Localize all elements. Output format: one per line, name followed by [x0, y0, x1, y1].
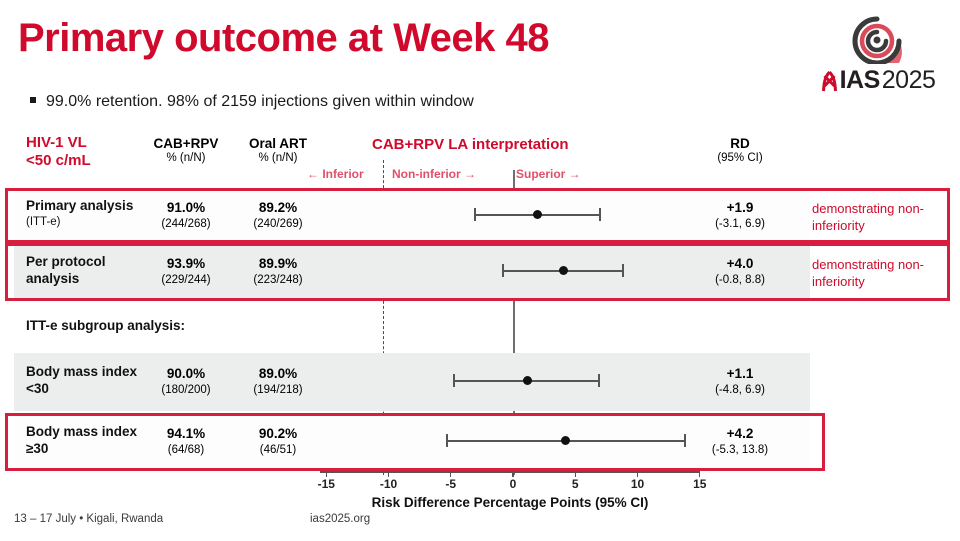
row-label-main: Per protocol: [26, 254, 106, 269]
cell-cab-value: 90.0% (180/200): [136, 365, 236, 397]
cell-oral-value: 89.2% (240/269): [228, 199, 328, 231]
oral-percent: 89.2%: [228, 199, 328, 217]
rd-header-sub: (95% CI): [680, 152, 800, 164]
row-label-main: Body mass index: [26, 364, 137, 379]
ias-wordmark: IAS 2025: [810, 66, 946, 95]
ias-logo-name: IAS: [840, 66, 880, 95]
cab-percent: 90.0%: [136, 365, 236, 383]
subgroup-section-header: ITT-e subgroup analysis:: [26, 318, 185, 333]
oral-fraction: (240/269): [228, 217, 328, 232]
cell-oral-value: 89.0% (194/218): [228, 365, 328, 397]
cell-cab-value: 91.0% (244/268): [136, 199, 236, 231]
oral-fraction: (194/218): [228, 383, 328, 398]
retention-bullet: 99.0% retention. 98% of 2159 injections …: [30, 93, 474, 111]
axis-title: Risk Difference Percentage Points (95% C…: [320, 495, 700, 510]
x-axis: -15-10-5051015 Risk Difference Percentag…: [0, 471, 960, 511]
rd-ci: (-3.1, 6.9): [680, 217, 800, 232]
cab-header-sub: % (n/N): [136, 152, 236, 164]
axis-line: [320, 471, 700, 473]
cell-oral-value: 89.9% (223/248): [228, 255, 328, 287]
cell-rd-value: +1.1 (-4.8, 6.9): [680, 365, 800, 397]
ci-cap-lower: [502, 264, 504, 277]
oral-percent: 90.2%: [228, 425, 328, 443]
point-estimate-dot: [523, 376, 532, 385]
cell-rd-value: +1.9 (-3.1, 6.9): [680, 199, 800, 231]
retention-bullet-text: 99.0% retention. 98% of 2159 injections …: [46, 93, 474, 110]
legend-superior: Superior →: [516, 167, 581, 181]
row-label-sub: (ITT-e): [26, 215, 133, 229]
row-label-main: Body mass index: [26, 424, 137, 439]
row-annotation: demonstrating non-inferiority: [812, 257, 958, 291]
table-row: Body mass index ≥30 94.1% (64/68) 90.2% …: [0, 413, 960, 471]
footer-event-info: 13 – 17 July • Kigali, Rwanda: [14, 513, 163, 525]
cell-oral-value: 90.2% (46/51): [228, 425, 328, 457]
row-label: Per protocol analysis: [26, 254, 106, 288]
oral-fraction: (223/248): [228, 273, 328, 288]
oral-header-main: Oral ART: [228, 136, 328, 151]
cell-cab-value: 93.9% (229/244): [136, 255, 236, 287]
ci-cap-lower: [453, 374, 455, 387]
oral-header-sub: % (n/N): [228, 152, 328, 164]
column-header-cab-rpv: CAB+RPV % (n/N): [136, 136, 236, 164]
row-label: Primary analysis (ITT-e): [26, 198, 133, 229]
axis-tick-label: 0: [493, 477, 533, 491]
row-label: Body mass index ≥30: [26, 424, 137, 458]
row-label-sub: <30: [26, 381, 137, 398]
rd-estimate: +1.9: [680, 199, 800, 217]
row-label-main: Primary analysis: [26, 198, 133, 213]
cell-cab-value: 94.1% (64/68): [136, 425, 236, 457]
point-estimate-dot: [559, 266, 568, 275]
axis-tick-label: 10: [618, 477, 658, 491]
row-label-sub: ≥30: [26, 441, 137, 458]
rd-ci: (-5.3, 13.8): [680, 443, 800, 458]
axis-tick-label: 5: [555, 477, 595, 491]
rd-estimate: +4.2: [680, 425, 800, 443]
cab-fraction: (64/68): [136, 443, 236, 458]
red-ribbon-icon: [821, 68, 838, 94]
point-estimate-dot: [561, 436, 570, 445]
column-header-rd: RD (95% CI): [680, 136, 800, 164]
table-row: Body mass index <30 90.0% (180/200) 89.0…: [0, 353, 960, 411]
cab-percent: 93.9%: [136, 255, 236, 273]
ci-cap-lower: [446, 434, 448, 447]
table-row: Per protocol analysis 93.9% (229/244) 89…: [0, 243, 960, 301]
outcome-header-line2: <50 c/mL: [26, 152, 146, 170]
page-title: Primary outcome at Week 48: [18, 16, 549, 61]
ias-spiral-icon: [841, 8, 915, 64]
ias-logo-year: 2025: [882, 66, 936, 95]
row-annotation: demonstrating non-inferiority: [812, 201, 958, 235]
ias-logo: IAS 2025: [810, 8, 946, 95]
cab-fraction: (244/268): [136, 217, 236, 232]
rd-header-main: RD: [680, 136, 800, 151]
axis-tick-label: -15: [306, 477, 346, 491]
column-header-outcome: HIV-1 VL <50 c/mL: [26, 134, 146, 169]
cab-header-main: CAB+RPV: [136, 136, 236, 151]
cell-rd-value: +4.2 (-5.3, 13.8): [680, 425, 800, 457]
bullet-marker-icon: [30, 97, 36, 103]
cell-rd-value: +4.0 (-0.8, 8.8): [680, 255, 800, 287]
legend-inferior: ← Inferior: [307, 167, 364, 181]
cab-fraction: (229/244): [136, 273, 236, 288]
oral-fraction: (46/51): [228, 443, 328, 458]
row-label: Body mass index <30: [26, 364, 137, 398]
legend-non-inferior: Non-inferior →: [392, 167, 476, 181]
cab-percent: 91.0%: [136, 199, 236, 217]
footer-website: ias2025.org: [310, 513, 370, 525]
rd-estimate: +4.0: [680, 255, 800, 273]
rd-ci: (-0.8, 8.8): [680, 273, 800, 288]
point-estimate-dot: [533, 210, 542, 219]
cab-fraction: (180/200): [136, 383, 236, 398]
axis-tick-label: -5: [431, 477, 471, 491]
rd-ci: (-4.8, 6.9): [680, 383, 800, 398]
ci-cap-upper: [622, 264, 624, 277]
cab-percent: 94.1%: [136, 425, 236, 443]
outcome-header-line1: HIV-1 VL: [26, 134, 146, 152]
column-header-oral-art: Oral ART % (n/N): [228, 136, 328, 164]
oral-percent: 89.9%: [228, 255, 328, 273]
row-label-sub: analysis: [26, 271, 106, 288]
ci-cap-upper: [599, 208, 601, 221]
column-header-interpretation: CAB+RPV LA interpretation: [372, 136, 672, 153]
table-row: Primary analysis (ITT-e) 91.0% (244/268)…: [0, 188, 960, 243]
oral-percent: 89.0%: [228, 365, 328, 383]
axis-tick-label: 15: [680, 477, 720, 491]
ci-cap-upper: [598, 374, 600, 387]
rd-estimate: +1.1: [680, 365, 800, 383]
axis-tick-label: -10: [369, 477, 409, 491]
ci-cap-lower: [474, 208, 476, 221]
